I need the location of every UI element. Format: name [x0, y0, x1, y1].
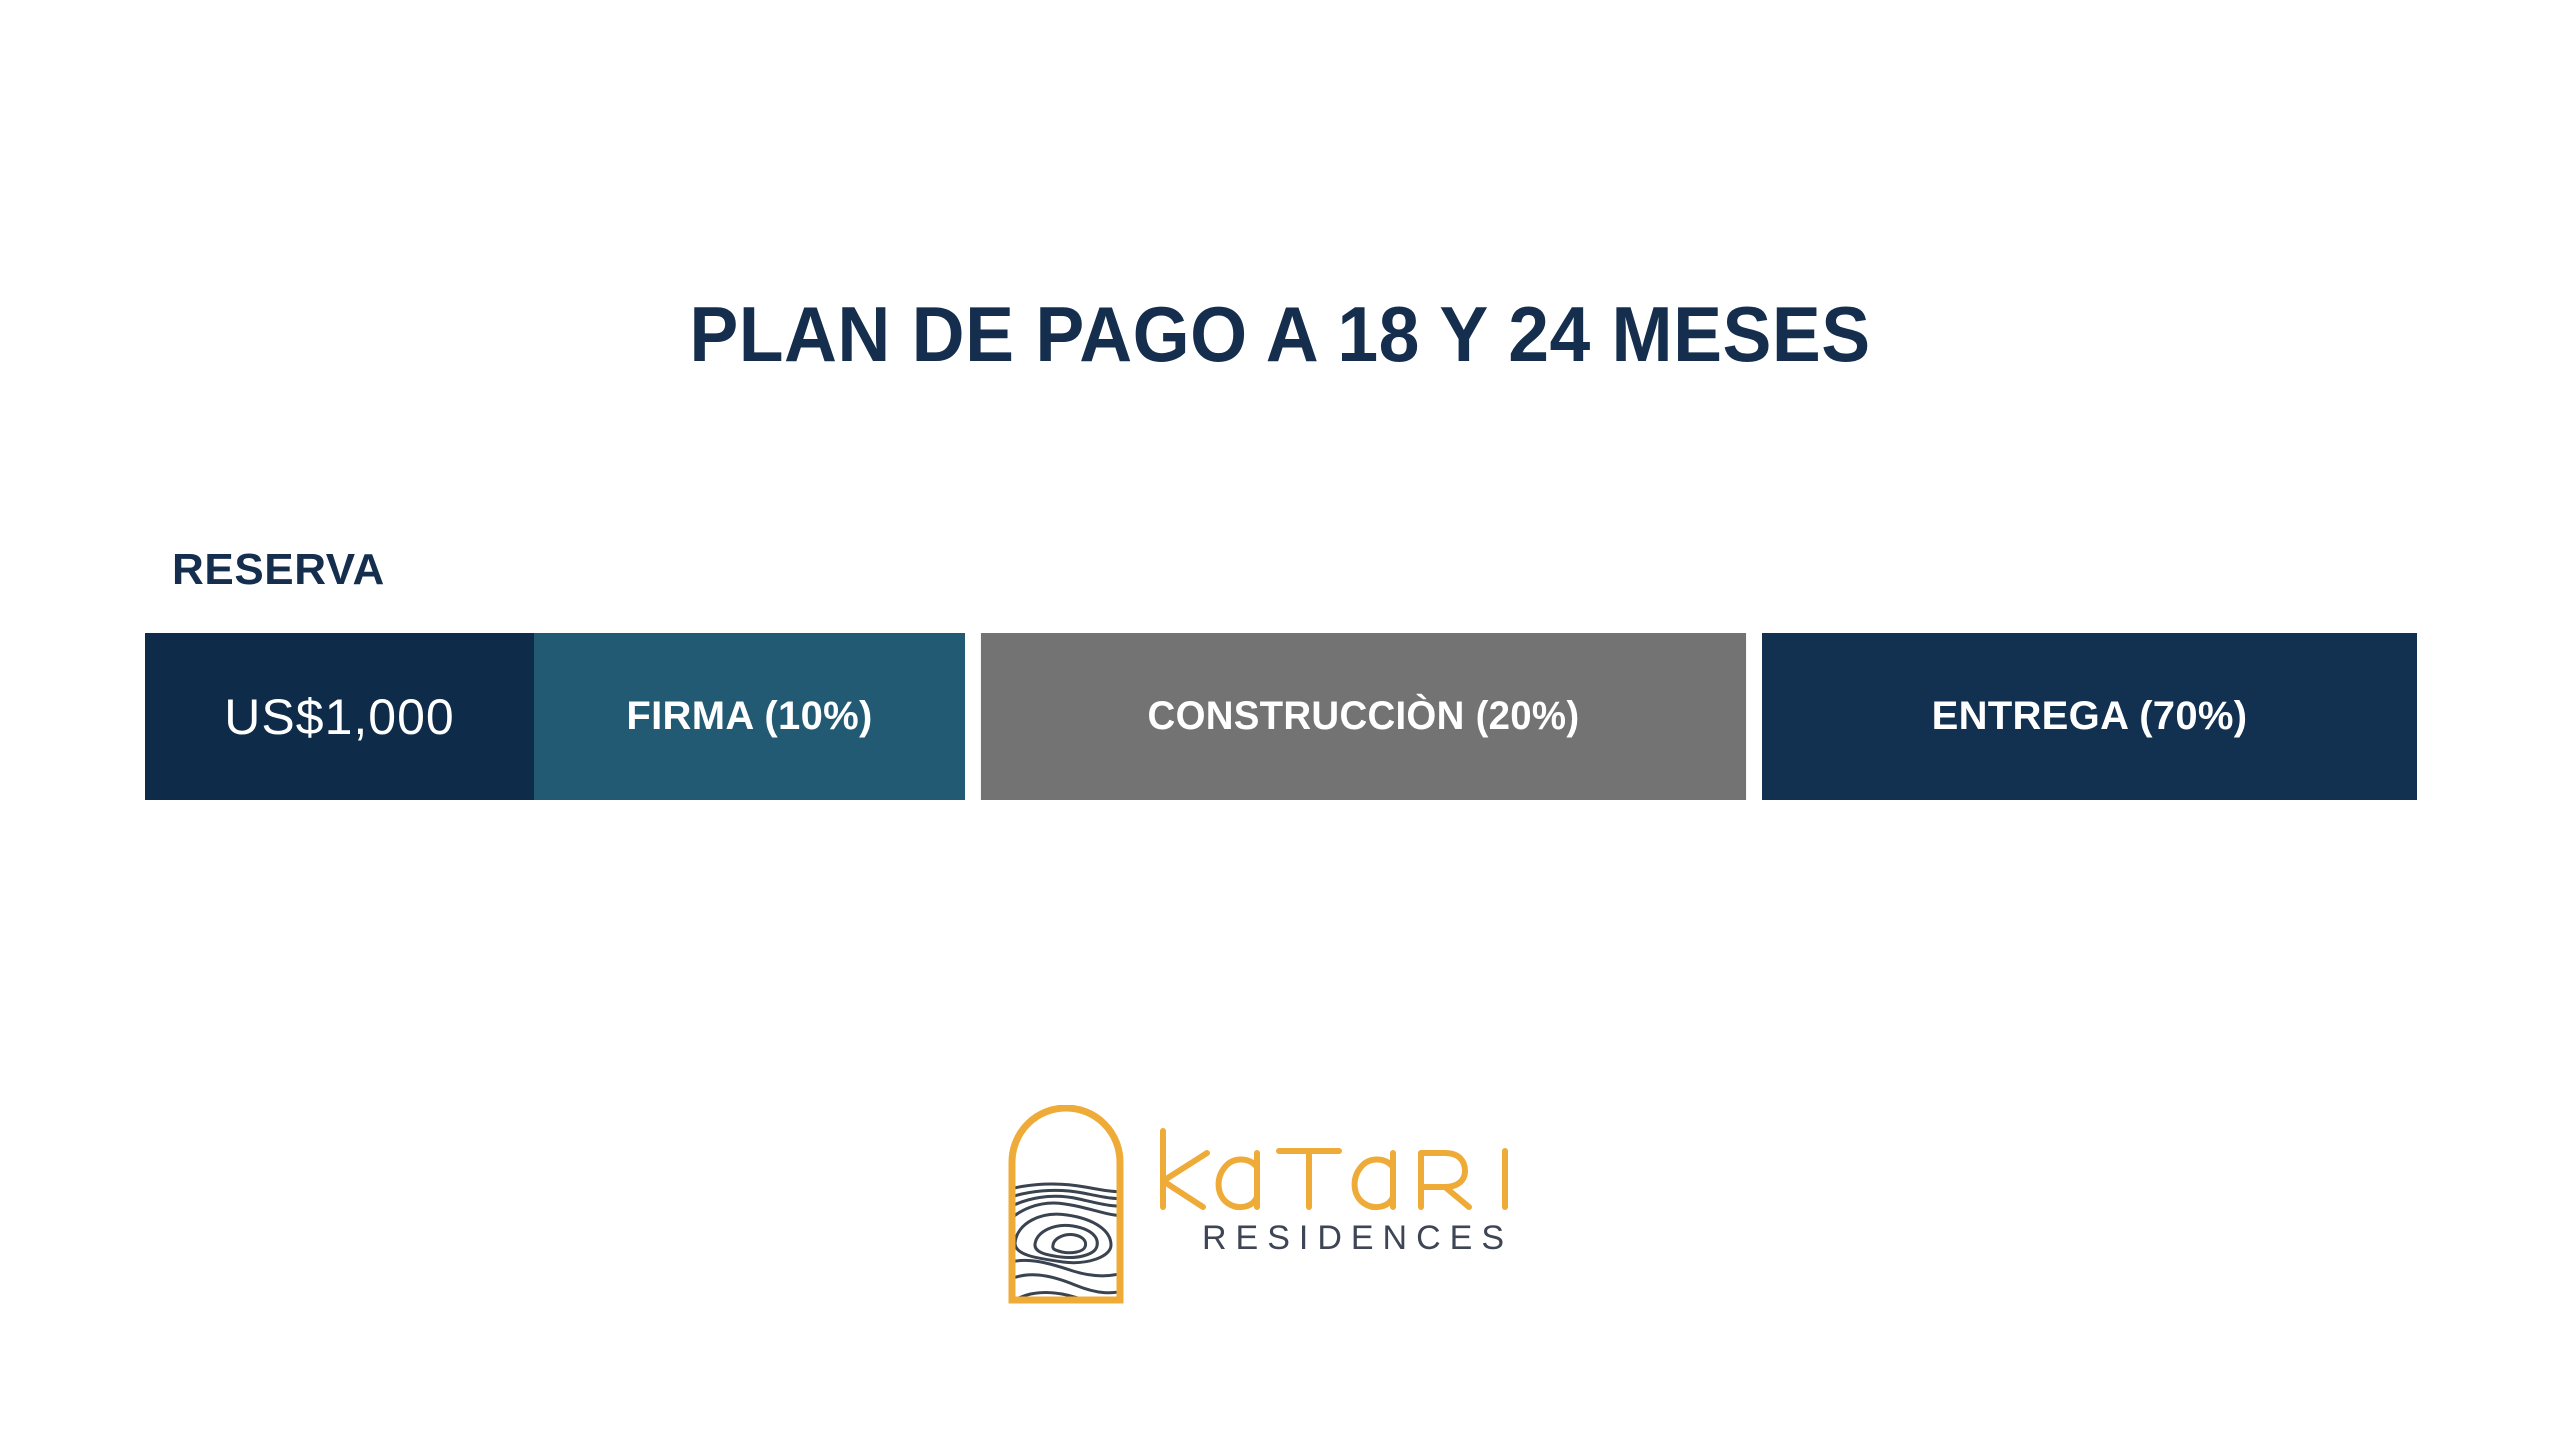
payment-segment-construccion: CONSTRUCCIÒN (20%) [981, 633, 1746, 800]
page-title: PLAN DE PAGO A 18 Y 24 MESES [77, 294, 2483, 376]
payment-segment-reserva: US$1,000 [145, 633, 534, 800]
payment-segment-firma: FIRMA (10%) [534, 633, 965, 800]
payment-segment-entrega: ENTREGA (70%) [1762, 633, 2417, 800]
brand-logo-subtitle: RESIDENCES [1193, 1221, 1513, 1255]
katari-arch-topography-icon [1007, 1105, 1125, 1305]
payment-segment-firma-label: FIRMA (10%) [626, 694, 872, 739]
payment-segment-entrega-label: ENTREGA (70%) [1932, 694, 2248, 739]
payment-schedule-bar: US$1,000 FIRMA (10%) CONSTRUCCIÒN (20%) … [145, 633, 2417, 800]
reserva-label: RESERVA [172, 548, 385, 592]
katari-wordmark [1153, 1123, 1553, 1215]
payment-segment-construccion-label: CONSTRUCCIÒN (20%) [1148, 694, 1580, 739]
payment-segment-reserva-label: US$1,000 [224, 688, 454, 746]
brand-logo: RESIDENCES [1007, 1105, 1553, 1305]
slide-canvas: PLAN DE PAGO A 18 Y 24 MESES RESERVA US$… [0, 0, 2560, 1440]
brand-logo-text: RESIDENCES [1153, 1105, 1553, 1255]
